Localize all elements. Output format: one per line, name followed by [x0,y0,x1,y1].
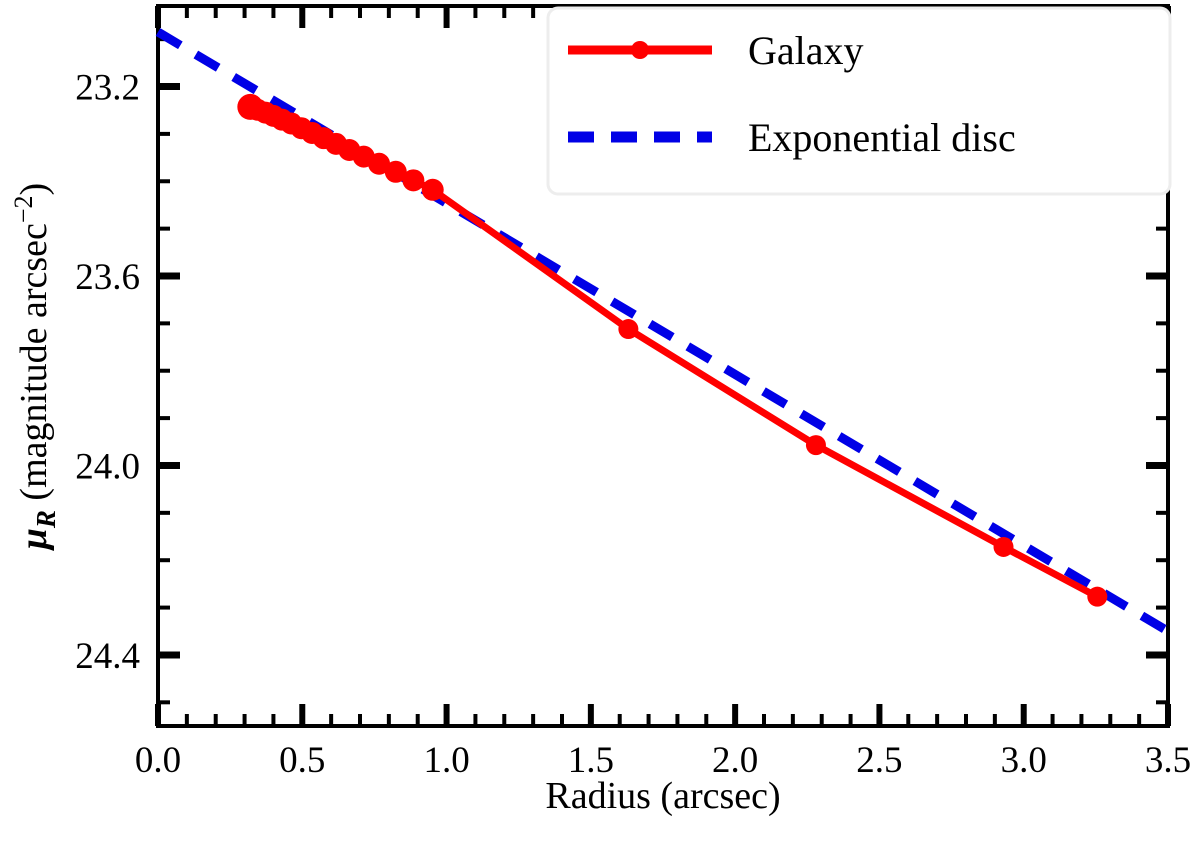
galaxy-point-18 [994,537,1014,557]
galaxy-point-15 [422,179,444,201]
legend-galaxy-marker-swatch [631,41,649,59]
x-tick-label-1: 0.5 [279,740,325,781]
y-tick-label-1: 23.6 [75,257,140,298]
x-tick-label-0: 0.0 [135,740,181,781]
y-tick-label-2: 24.0 [75,446,140,487]
x-axis-title: Radius (arcsec) [545,775,780,817]
legend-exponential-disc-label: Exponential disc [748,115,1016,160]
galaxy-point-17 [806,435,826,455]
figure-container: 0.00.51.01.52.02.53.03.5 23.223.624.024.… [0,0,1200,843]
y-tick-label-3: 24.4 [75,636,140,677]
x-tick-label-2: 1.0 [423,740,469,781]
galaxy-point-19 [1087,587,1107,607]
y-axis-units-text: (magnitude arcsec [13,223,55,500]
x-tick-label-6: 3.0 [1001,740,1047,781]
galaxy-point-14 [402,169,424,191]
x-tick-label-7: 3.5 [1145,740,1191,781]
svg-text:μR (magnitude arcsec−2): μR (magnitude arcsec−2) [9,183,61,551]
x-tick-label-5: 2.5 [856,740,902,781]
chart-legend: Galaxy Exponential disc [548,8,1170,194]
y-axis-mu-subscript: R [31,510,61,529]
y-axis-mu-symbol: μ [13,528,55,551]
surface-brightness-profile-chart: 0.00.51.01.52.02.53.03.5 23.223.624.024.… [0,0,1200,843]
galaxy-point-16 [618,319,638,339]
y-axis-units-exponent: −2 [9,195,38,223]
y-axis-title: μR (magnitude arcsec−2) [9,183,61,551]
y-axis-units-close: ) [13,183,55,196]
legend-galaxy-label: Galaxy [748,28,864,73]
y-tick-label-0: 23.2 [75,68,140,109]
